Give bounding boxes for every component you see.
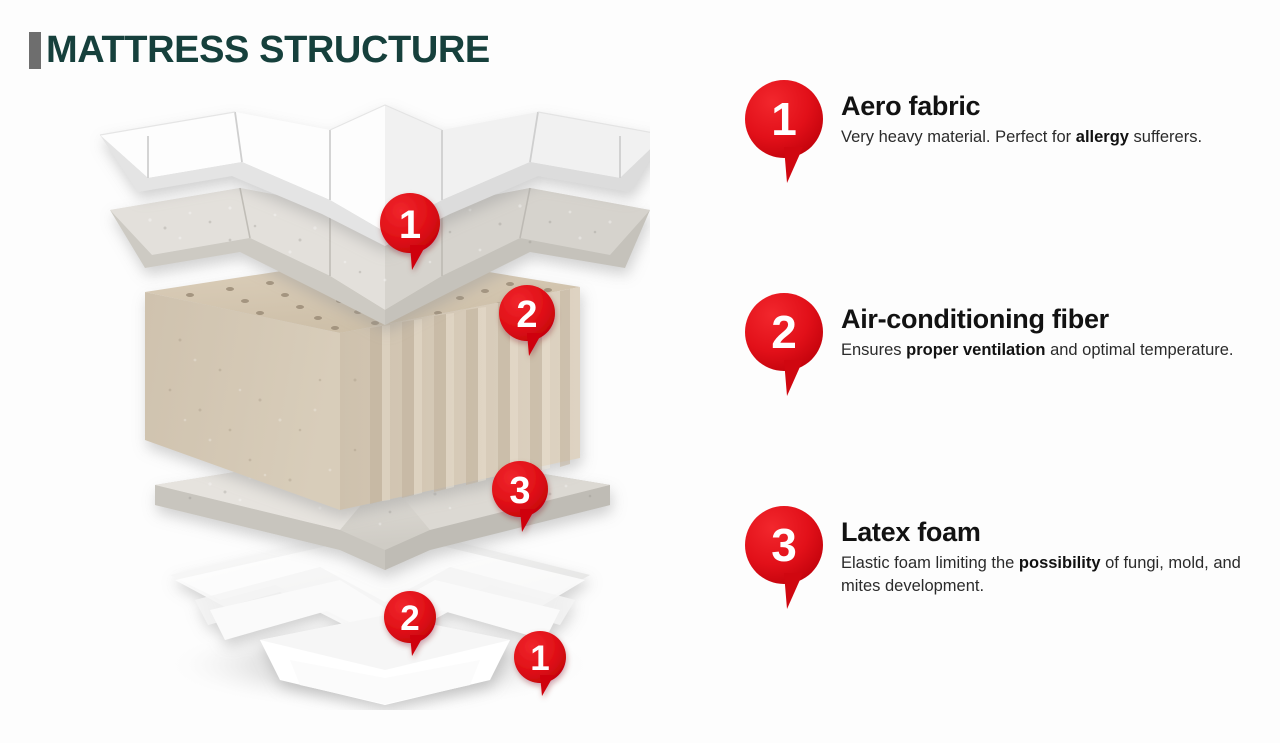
- svg-text:1: 1: [530, 639, 549, 678]
- legend-desc-3: Elastic foam limiting the possibility of…: [841, 552, 1241, 598]
- legend-list: 1 Aero fabric Very heavy material. Perfe…: [745, 80, 1265, 616]
- legend-desc-2-part2: and optimal temperature.: [1045, 341, 1233, 359]
- legend-desc-3-part1: Elastic foam limiting the: [841, 554, 1019, 572]
- legend-pin-2-icon: 2: [745, 293, 841, 403]
- legend-pin-3-icon: 3: [745, 506, 841, 616]
- legend-item-1[interactable]: 1 Aero fabric Very heavy material. Perfe…: [745, 80, 1265, 190]
- legend-desc-3-bold: possibility: [1019, 554, 1101, 572]
- legend-desc-1-bold: allergy: [1076, 128, 1129, 146]
- legend-text-1: Aero fabric Very heavy material. Perfect…: [841, 80, 1202, 149]
- legend-item-2[interactable]: 2 Air-conditioning fiber Ensures proper …: [745, 293, 1265, 403]
- title-bullet-icon: [29, 32, 41, 69]
- legend-desc-1-part1: Very heavy material. Perfect for: [841, 128, 1076, 146]
- page-title: MATTRESS STRUCTURE: [29, 27, 490, 73]
- legend-desc-2: Ensures proper ventilation and optimal t…: [841, 339, 1234, 362]
- legend-desc-2-bold: proper ventilation: [906, 341, 1045, 359]
- legend-text-3: Latex foam Elastic foam limiting the pos…: [841, 506, 1241, 598]
- legend-desc-1: Very heavy material. Perfect for allergy…: [841, 126, 1202, 149]
- page-title-text: MATTRESS STRUCTURE: [46, 30, 490, 70]
- svg-text:1: 1: [399, 203, 421, 247]
- legend-text-2: Air-conditioning fiber Ensures proper ve…: [841, 293, 1234, 362]
- legend-title-1: Aero fabric: [841, 91, 1202, 121]
- legend-item-3[interactable]: 3 Latex foam Elastic foam limiting the p…: [745, 506, 1265, 616]
- legend-title-2: Air-conditioning fiber: [841, 304, 1234, 334]
- legend-desc-1-part2: sufferers.: [1129, 128, 1202, 146]
- svg-text:3: 3: [509, 470, 530, 512]
- legend-pin-1-icon: 1: [745, 80, 841, 190]
- svg-text:2: 2: [516, 294, 537, 336]
- mattress-exploded-illustration: 1 2 3 2 1: [90, 80, 650, 710]
- legend-title-3: Latex foam: [841, 517, 1241, 547]
- svg-text:2: 2: [400, 599, 419, 638]
- legend-desc-2-part1: Ensures: [841, 341, 906, 359]
